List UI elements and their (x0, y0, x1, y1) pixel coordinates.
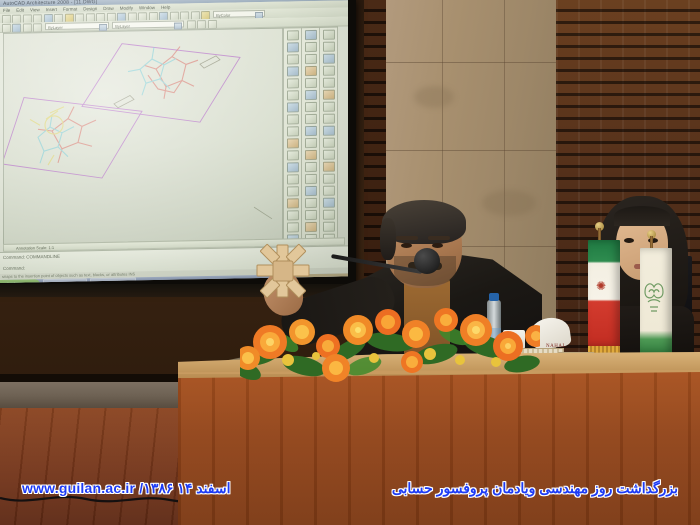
palette-icon-29[interactable] (305, 138, 317, 148)
tool-palette-column-3[interactable] (319, 27, 338, 251)
menu-item-file[interactable]: File (0, 7, 13, 13)
lineweight-icon[interactable] (187, 20, 196, 29)
palette-icon-3[interactable] (287, 54, 299, 64)
palette-icon-9[interactable] (287, 126, 299, 136)
autocad-drawing-canvas[interactable] (3, 28, 283, 245)
eye-left (624, 238, 634, 243)
palette-icon-44[interactable] (323, 90, 335, 100)
photograph-frame: AutoCAD Architecture 2008 - [11.DWG] Fil… (0, 0, 700, 525)
palette-icon-49[interactable] (323, 150, 335, 160)
palette-icon-46[interactable] (323, 114, 335, 124)
palette-icon-53[interactable] (323, 198, 335, 208)
palette-icon-12[interactable] (287, 162, 299, 172)
palette-icon-54[interactable] (323, 210, 335, 220)
wooden-star-model (255, 243, 311, 299)
tray-antivirus-icon[interactable] (316, 276, 321, 281)
palette-icon-7[interactable] (287, 102, 299, 112)
microphone-stem (331, 254, 422, 274)
palette-icon-34[interactable] (305, 198, 317, 208)
menu-item-edit[interactable]: Edit (13, 6, 27, 12)
palette-icon-41[interactable] (323, 54, 335, 64)
palette-icon-26[interactable] (305, 102, 317, 112)
projection-screen: AutoCAD Architecture 2008 - [11.DWG] Fil… (0, 0, 348, 283)
palette-icon-13[interactable] (287, 174, 299, 184)
layer-state-icon[interactable] (12, 24, 21, 33)
bottle-cap (489, 293, 499, 301)
palette-icon-28[interactable] (305, 126, 317, 136)
eyebrow-right (428, 236, 450, 240)
palette-icon-35[interactable] (305, 210, 317, 220)
palette-icon-48[interactable] (323, 138, 335, 148)
tool-palette-column-2[interactable] (301, 27, 320, 251)
layer-off-icon[interactable] (23, 23, 32, 32)
menu-item-insert[interactable]: Insert (43, 6, 60, 12)
plotstyle-icon[interactable] (197, 20, 206, 29)
podium-front-panel (178, 372, 700, 525)
palette-icon-17[interactable] (287, 222, 299, 232)
taskbar-item-explorer[interactable]: 3 Windows Explorer (43, 278, 87, 283)
annotation-scale-label: Annotation Scale: (16, 245, 47, 251)
palette-icon-47[interactable] (323, 126, 335, 136)
eyebrow-left (396, 236, 418, 240)
autocad-window: AutoCAD Architecture 2008 - [11.DWG] Fil… (0, 0, 348, 283)
palette-icon-36[interactable] (305, 222, 317, 232)
tray-volume-icon[interactable] (323, 276, 328, 281)
palette-icon-14[interactable] (287, 186, 299, 196)
menu-item-help[interactable]: Help (158, 4, 173, 10)
menu-item-design[interactable]: Design (80, 5, 100, 11)
palette-icon-43[interactable] (323, 78, 335, 88)
microphone (330, 248, 450, 288)
layer-manager-icon[interactable] (2, 24, 11, 33)
palette-icon-51[interactable] (323, 174, 335, 184)
palette-icon-24[interactable] (305, 78, 317, 88)
hairline (614, 206, 670, 226)
palette-icon-16[interactable] (287, 210, 299, 220)
palette-icon-11[interactable] (287, 150, 299, 160)
palette-icon-32[interactable] (305, 174, 317, 184)
layer-combo[interactable]: ByLayer (45, 22, 109, 30)
palette-icon-15[interactable] (287, 198, 299, 208)
palette-icon-27[interactable] (305, 114, 317, 124)
palette-icon-20[interactable] (305, 30, 317, 40)
start-button[interactable]: start (0, 279, 40, 283)
palette-icon-4[interactable] (287, 66, 299, 76)
menu-item-format[interactable]: Format (60, 5, 80, 11)
color-combo[interactable]: ByColor (213, 10, 265, 18)
palette-icon-52[interactable] (323, 186, 335, 196)
palette-icon-42[interactable] (323, 66, 335, 76)
gift-box-label-1: NAHAL (546, 344, 566, 349)
palette-icon-23[interactable] (305, 66, 317, 76)
palette-icon-8[interactable] (287, 114, 299, 124)
palette-icon-10[interactable] (287, 138, 299, 148)
university-emblem-icon (642, 278, 666, 318)
palette-icon-45[interactable] (323, 102, 335, 112)
linetype-combo[interactable]: ByLayer (112, 20, 184, 28)
palette-icon-31[interactable] (305, 162, 317, 172)
palette-icon-5[interactable] (287, 78, 299, 88)
annotation-scale-value[interactable]: 1:1 (48, 245, 54, 250)
palette-icon-50[interactable] (323, 162, 335, 172)
menu-item-window[interactable]: Window (136, 4, 158, 10)
palette-icon-2[interactable] (287, 42, 299, 52)
palette-icon-21[interactable] (305, 42, 317, 52)
flower-arrangement (240, 302, 540, 386)
palette-icon-39[interactable] (323, 30, 335, 40)
menu-item-draw[interactable]: Draw (100, 5, 117, 11)
menu-item-modify[interactable]: Modify (117, 4, 136, 10)
menu-item-view[interactable]: View (27, 6, 43, 12)
palette-icon-1[interactable] (287, 30, 299, 40)
iran-emblem-icon: ✺ (596, 280, 610, 294)
ucs-icon[interactable] (208, 20, 217, 29)
palette-icon-30[interactable] (305, 150, 317, 160)
palette-icon-22[interactable] (305, 54, 317, 64)
palette-icon-6[interactable] (287, 90, 299, 100)
palette-icon-40[interactable] (323, 42, 335, 52)
palette-icon-25[interactable] (305, 90, 317, 100)
palette-icon-55[interactable] (323, 222, 335, 232)
microphone-head (414, 248, 440, 274)
palette-icon-33[interactable] (305, 186, 317, 196)
layer-freeze-icon[interactable] (33, 23, 42, 32)
tool-palette-column-1[interactable] (283, 27, 302, 251)
taskbar-item-autocad[interactable]: AutoCAD Architectu... (90, 277, 137, 283)
cad-drawing-vectors (4, 29, 282, 244)
